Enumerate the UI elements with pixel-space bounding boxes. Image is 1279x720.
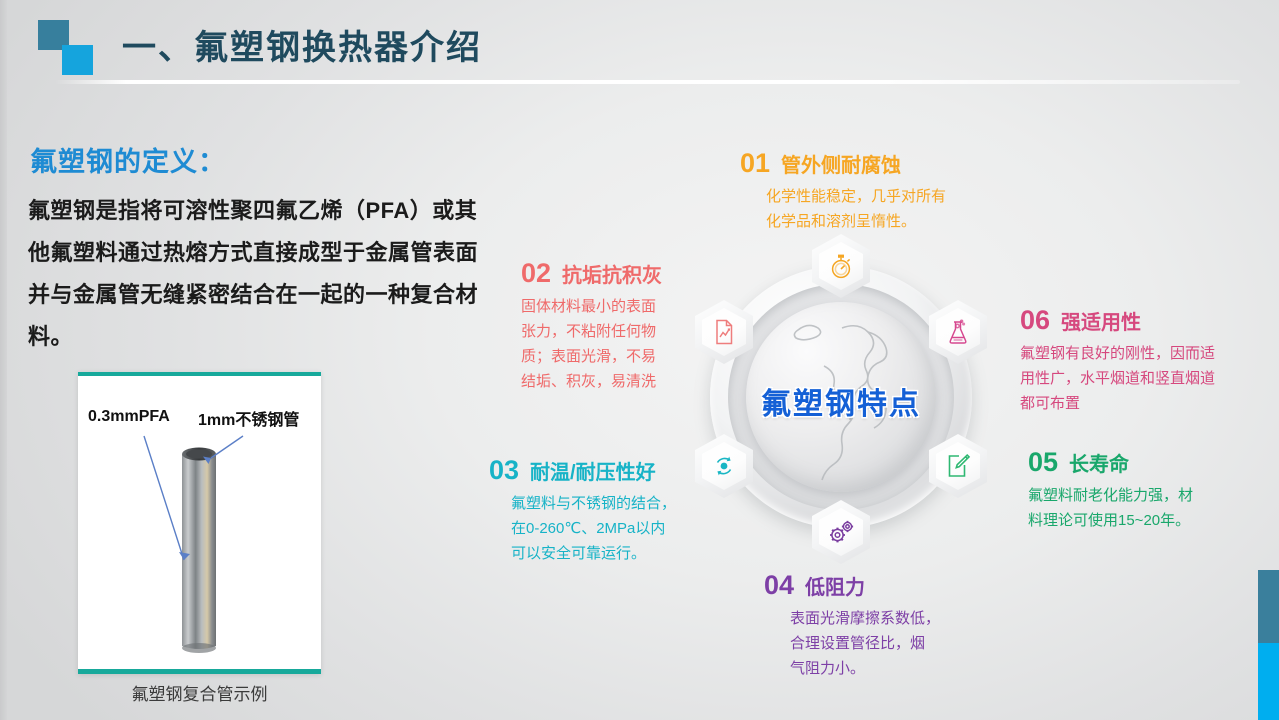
feature-06-number: 06	[1020, 305, 1050, 336]
feature-01-title: 管外侧耐腐蚀	[781, 149, 901, 178]
feature-03-desc: 氟塑料与不锈钢的结合， 在0-260℃、2MPa以内 可以安全可靠运行。	[489, 491, 704, 566]
chart-document-icon	[702, 308, 746, 356]
feature-05: 05 长寿命 氟塑料耐老化能力强，材 料理论可使用15~20年。	[1028, 447, 1233, 533]
feature-02-number: 02	[521, 258, 551, 289]
slide-root: 一、氟塑钢换热器介绍 氟塑钢的定义： 氟塑钢是指将可溶性聚四氟乙烯（PFA）或其…	[0, 0, 1279, 720]
feature-01: 01 管外侧耐腐蚀 化学性能稳定，几乎对所有 化学品和溶剂呈惰性。	[740, 148, 946, 234]
feature-03: 03 耐温/耐压性好 氟塑料与不锈钢的结合， 在0-260℃、2MPa以内 可以…	[489, 455, 704, 566]
flask-icon	[936, 308, 980, 356]
feature-01-desc: 化学性能稳定，几乎对所有 化学品和溶剂呈惰性。	[740, 184, 946, 234]
photo-bottom-accent	[78, 669, 321, 674]
gears-icon	[819, 508, 863, 556]
feature-05-number: 05	[1028, 447, 1058, 478]
feature-03-head: 03 耐温/耐压性好	[489, 455, 704, 486]
header-square-light	[62, 45, 93, 75]
feature-04-number: 04	[764, 570, 794, 601]
feature-05-head: 05 长寿命	[1028, 447, 1233, 478]
feature-03-title: 耐温/耐压性好	[530, 456, 656, 485]
feature-01-head: 01 管外侧耐腐蚀	[740, 148, 946, 179]
edit-document-icon	[936, 442, 980, 490]
definition-body: 氟塑钢是指将可溶性聚四氟乙烯（PFA）或其他氟塑料通过热熔方式直接成型于金属管表…	[28, 190, 488, 358]
feature-05-desc: 氟塑料耐老化能力强，材 料理论可使用15~20年。	[1028, 483, 1233, 533]
stopwatch-icon	[819, 242, 863, 290]
page-title: 一、氟塑钢换热器介绍	[122, 20, 482, 69]
left-edge-strip	[0, 0, 7, 720]
header-divider	[55, 80, 1240, 84]
photo-label-steel: 1mm不锈钢管	[198, 406, 299, 430]
feature-02-title: 抗垢抗积灰	[562, 259, 662, 288]
definition-title: 氟塑钢的定义：	[30, 140, 226, 179]
composite-pipe-photo: 0.3mmPFA 1mm不锈钢管	[78, 372, 321, 674]
feature-01-number: 01	[740, 148, 770, 179]
feature-06-head: 06 强适用性	[1020, 305, 1255, 336]
feature-02-head: 02 抗垢抗积灰	[521, 258, 681, 289]
photo-label-pfa: 0.3mmPFA	[88, 408, 170, 426]
feature-02: 02 抗垢抗积灰 固体材料最小的表面 张力，不粘附任何物 质；表面光滑，不易 结…	[521, 258, 681, 394]
photo-caption: 氟塑钢复合管示例	[78, 680, 321, 705]
feature-04-title: 低阻力	[805, 571, 865, 600]
diagram-center-title: 氟塑钢特点	[688, 379, 994, 423]
feature-04-head: 04 低阻力	[764, 570, 964, 601]
recycle-arrows-icon	[702, 442, 746, 490]
feature-02-desc: 固体材料最小的表面 张力，不粘附任何物 质；表面光滑，不易 结垢、积灰，易清洗	[521, 294, 681, 394]
corner-accent-bottom	[1258, 643, 1279, 720]
feature-06: 06 强适用性 氟塑钢有良好的刚性，因而适 用性广，水平烟道和竖直烟道 都可布置	[1020, 305, 1255, 416]
feature-06-title: 强适用性	[1061, 306, 1141, 335]
feature-04-desc: 表面光滑摩擦系数低， 合理设置管径比，烟 气阻力小。	[764, 606, 964, 681]
feature-03-number: 03	[489, 455, 519, 486]
features-ring-diagram: 氟塑钢特点	[688, 238, 994, 562]
feature-06-desc: 氟塑钢有良好的刚性，因而适 用性广，水平烟道和竖直烟道 都可布置	[1020, 341, 1255, 416]
feature-04: 04 低阻力 表面光滑摩擦系数低， 合理设置管径比，烟 气阻力小。	[764, 570, 964, 681]
feature-05-title: 长寿命	[1069, 448, 1129, 477]
corner-accent-top	[1258, 570, 1279, 643]
